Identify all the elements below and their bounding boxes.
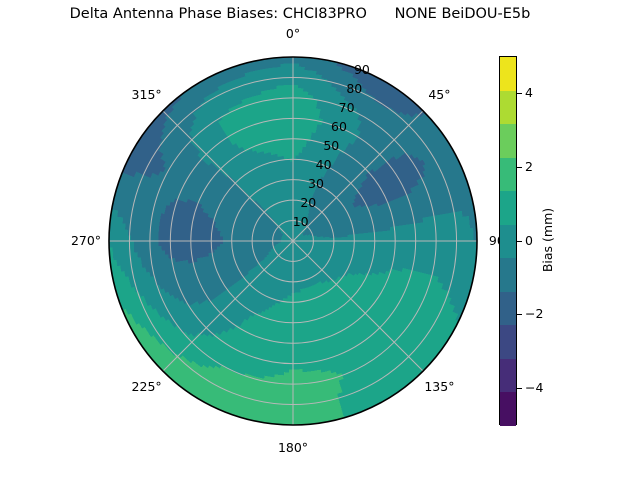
colorbar-tick-mark bbox=[517, 167, 522, 168]
colorbar-band bbox=[500, 325, 516, 359]
colorbar-band bbox=[500, 359, 516, 393]
radial-tick-label-10: 10 bbox=[293, 216, 309, 229]
polar-plot: 102030405060708090 bbox=[108, 56, 478, 426]
azimuth-tick-label-270: 270° bbox=[71, 235, 101, 248]
colorbar-tick-mark bbox=[517, 388, 522, 389]
figure-canvas: Delta Antenna Phase Biases: CHCI83PRO NO… bbox=[0, 0, 640, 480]
polar-grid-layer bbox=[109, 57, 477, 425]
radial-tick-label-40: 40 bbox=[316, 159, 332, 172]
colorbar-band bbox=[500, 191, 516, 225]
colorbar-band bbox=[500, 124, 516, 158]
radial-tick-label-60: 60 bbox=[331, 121, 347, 134]
colorbar-tick-mark bbox=[517, 241, 522, 242]
page-title: Delta Antenna Phase Biases: CHCI83PRO NO… bbox=[0, 6, 600, 22]
azimuth-tick-label-45: 45° bbox=[428, 88, 450, 101]
colorbar-axis-label: Bias (mm) bbox=[542, 208, 555, 272]
azimuth-tick-label-135: 135° bbox=[424, 381, 454, 394]
radial-tick-label-90: 90 bbox=[354, 64, 370, 77]
colorbar-band bbox=[500, 91, 516, 125]
colorbar-band bbox=[500, 258, 516, 292]
colorbar[interactable] bbox=[499, 56, 517, 425]
azimuth-tick-label-315: 315° bbox=[132, 88, 162, 101]
colorbar-tick-mark bbox=[517, 314, 522, 315]
colorbar-tick-label: −4 bbox=[525, 382, 543, 395]
colorbar-tick-label: 4 bbox=[525, 87, 533, 100]
radial-tick-label-70: 70 bbox=[339, 102, 355, 115]
azimuth-tick-label-180: 180° bbox=[278, 442, 308, 455]
colorbar-band bbox=[500, 392, 516, 426]
colorbar-band bbox=[500, 57, 516, 91]
colorbar-tick-label: 2 bbox=[525, 160, 533, 173]
azimuth-tick-label-0: 0° bbox=[286, 28, 300, 41]
polar-contour-svg bbox=[108, 56, 478, 426]
colorbar-band bbox=[500, 292, 516, 326]
radial-tick-label-30: 30 bbox=[308, 178, 324, 191]
colorbar-band bbox=[500, 225, 516, 259]
radial-tick-label-20: 20 bbox=[300, 197, 316, 210]
radial-tick-label-80: 80 bbox=[346, 83, 362, 96]
colorbar-tick-mark bbox=[517, 93, 522, 94]
radial-tick-label-50: 50 bbox=[323, 140, 339, 153]
azimuth-tick-label-225: 225° bbox=[132, 381, 162, 394]
colorbar-tick-label: −2 bbox=[525, 308, 543, 321]
colorbar-tick-label: 0 bbox=[525, 234, 533, 247]
colorbar-band bbox=[500, 158, 516, 192]
